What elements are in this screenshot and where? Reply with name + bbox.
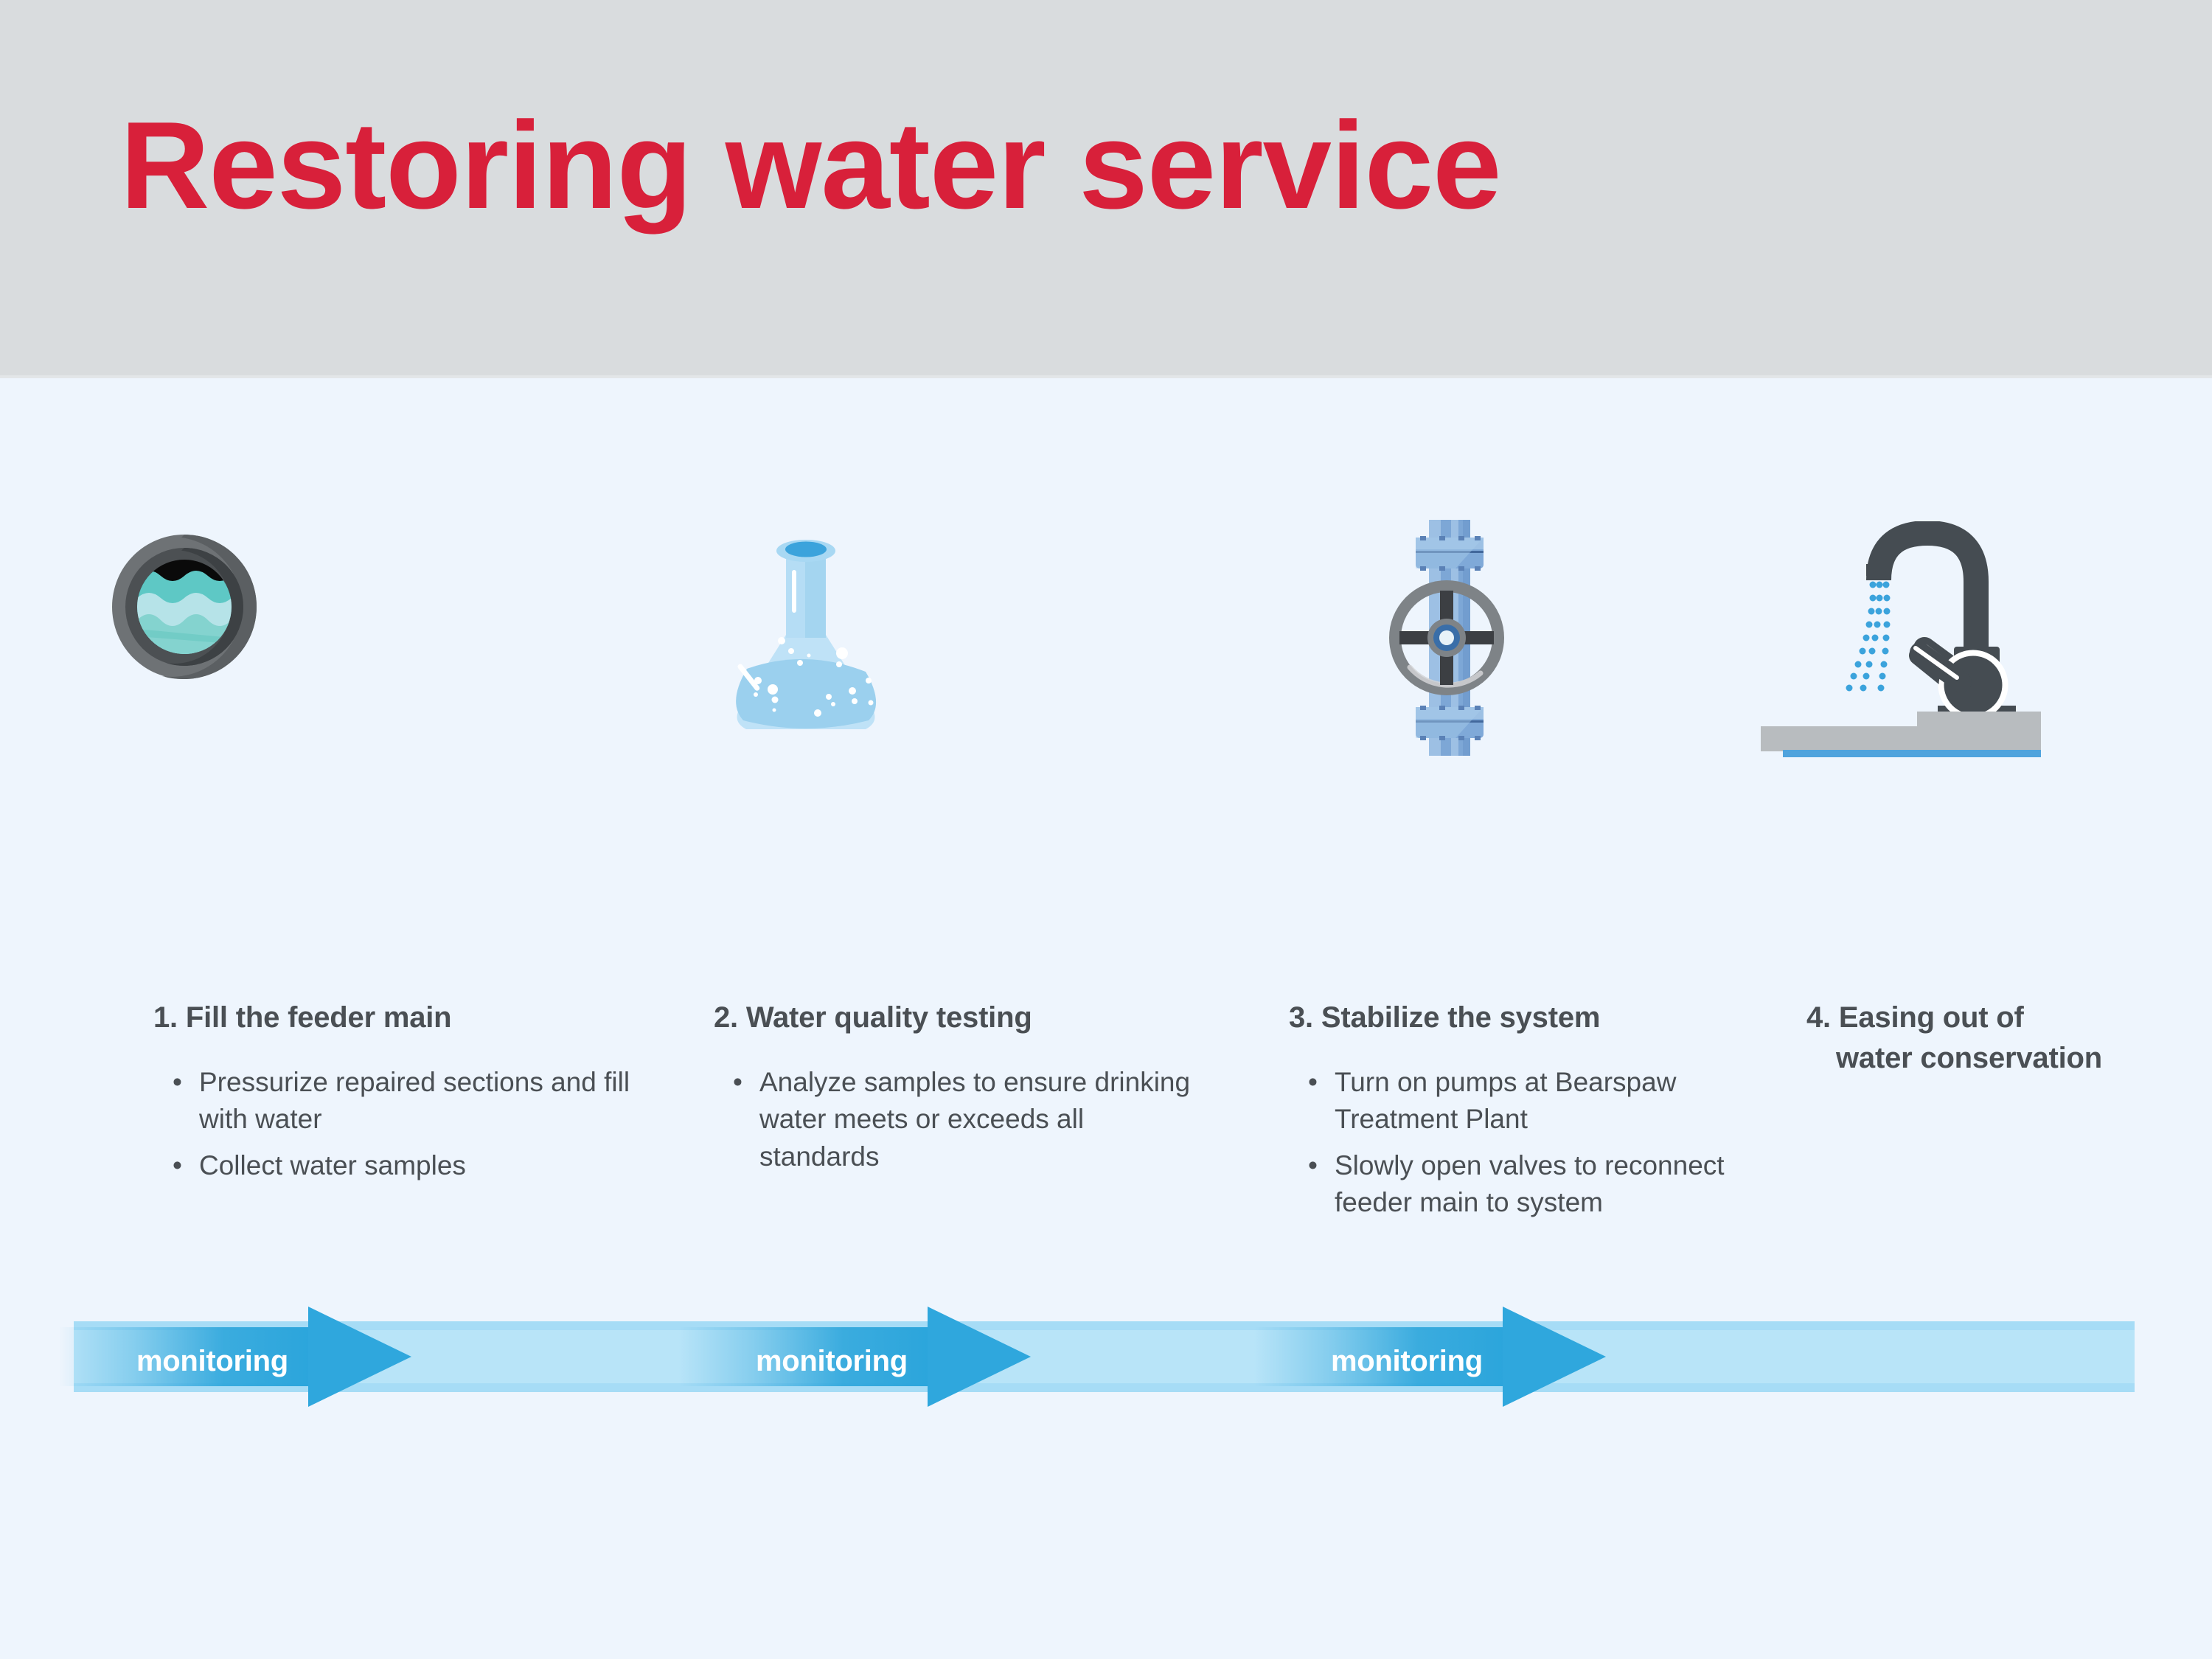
step-2-heading: 2. Water quality testing xyxy=(714,998,1032,1038)
step-column-4: 4. Easing out of water conservation xyxy=(1725,378,2212,1285)
faucet-sink-icon xyxy=(1761,521,2041,757)
step-4-heading-line-2: water conservation xyxy=(1806,1038,2102,1079)
step-column-2: 2. Water quality testing • Analyze sampl… xyxy=(649,378,1209,1285)
pipe-valve-icon xyxy=(1388,520,1506,756)
step-1-bullet-1-text: Pressurize repaired sections and fill wi… xyxy=(199,1067,630,1134)
step-3-bullet-1-text: Turn on pumps at Bearspaw Treatment Plan… xyxy=(1335,1067,1676,1134)
monitoring-arrow-3-head xyxy=(1503,1307,1606,1407)
list-item: • Pressurize repaired sections and fill … xyxy=(168,1064,640,1138)
step-4-icon-area xyxy=(1725,533,2212,880)
list-item: • Turn on pumps at Bearspaw Treatment Pl… xyxy=(1304,1064,1775,1138)
monitoring-arrow-1-head xyxy=(308,1307,411,1407)
list-item: • Collect water samples xyxy=(168,1147,640,1184)
step-3-heading: 3. Stabilize the system xyxy=(1289,998,1600,1038)
step-1-bullet-2-text: Collect water samples xyxy=(199,1150,466,1180)
pipe-water-cross-section-icon xyxy=(111,533,258,681)
monitoring-timeline-bar: monitoring monitoring monitoring xyxy=(74,1321,2135,1392)
step-3-bullet-list: • Turn on pumps at Bearspaw Treatment Pl… xyxy=(1304,1064,1775,1230)
step-4-heading: 4. Easing out of water conservation xyxy=(1806,998,2102,1079)
monitoring-arrow-3-label: monitoring xyxy=(1331,1345,1483,1378)
bullet-dot-icon: • xyxy=(1308,1147,1318,1184)
bullet-dot-icon: • xyxy=(173,1064,182,1101)
step-column-1: 1. Fill the feeder main • Pressurize rep… xyxy=(88,378,649,1285)
bullet-dot-icon: • xyxy=(1308,1064,1318,1101)
list-item: • Slowly open valves to reconnect feeder… xyxy=(1304,1147,1775,1222)
steps-container: 1. Fill the feeder main • Pressurize rep… xyxy=(0,378,2212,1285)
bullet-dot-icon: • xyxy=(173,1147,182,1184)
list-item: • Analyze samples to ensure drinking wat… xyxy=(728,1064,1200,1175)
infographic-page: Restoring water service xyxy=(0,0,2212,1659)
step-column-3: 3. Stabilize the system • Turn on pumps … xyxy=(1224,378,1784,1285)
monitoring-arrow-1-label: monitoring xyxy=(136,1345,288,1378)
step-2-bullet-list: • Analyze samples to ensure drinking wat… xyxy=(728,1064,1200,1184)
step-2-icon-area xyxy=(649,533,1209,880)
page-title: Restoring water service xyxy=(120,103,1501,227)
step-3-bullet-2-text: Slowly open valves to reconnect feeder m… xyxy=(1335,1150,1725,1217)
lab-flask-icon xyxy=(721,524,891,745)
step-1-icon-area xyxy=(88,533,649,880)
step-3-heading-line-1: 3. Stabilize the system xyxy=(1289,1001,1600,1034)
monitoring-arrow-2-label: monitoring xyxy=(756,1345,908,1378)
step-1-heading-line-1: 1. Fill the feeder main xyxy=(153,1001,451,1034)
step-3-icon-area xyxy=(1224,533,1784,880)
monitoring-arrow-2-head xyxy=(928,1307,1031,1407)
step-4-heading-line-1: 4. Easing out of xyxy=(1806,1001,2024,1034)
header-band: Restoring water service xyxy=(0,0,2212,378)
step-1-bullet-list: • Pressurize repaired sections and fill … xyxy=(168,1064,640,1193)
step-1-heading: 1. Fill the feeder main xyxy=(153,998,451,1038)
step-2-bullet-1-text: Analyze samples to ensure drinking water… xyxy=(759,1067,1190,1172)
bullet-dot-icon: • xyxy=(733,1064,742,1101)
step-2-heading-line-1: 2. Water quality testing xyxy=(714,1001,1032,1034)
